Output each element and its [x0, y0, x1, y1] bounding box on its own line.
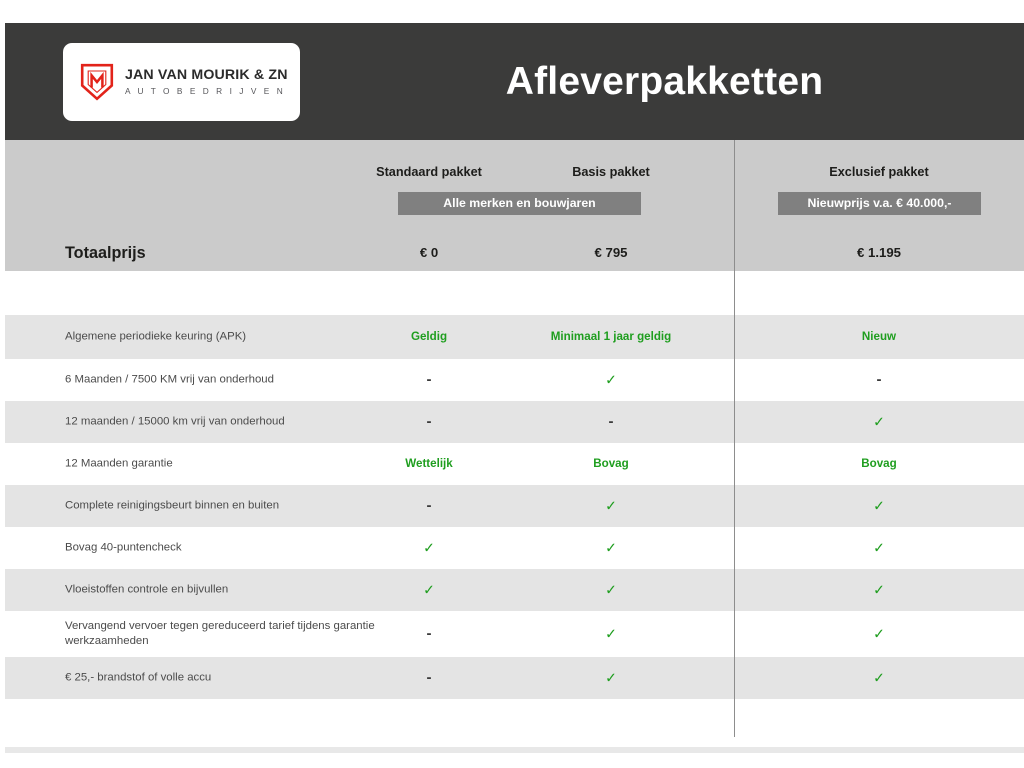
- cell-basis-check-icon: ✓: [532, 372, 690, 389]
- cell-exclusief-check-icon: ✓: [734, 670, 1024, 687]
- company-logo: JAN VAN MOURIK & ZN A U T O B E D R I J …: [63, 43, 300, 121]
- feature-label: Vervangend vervoer tegen gereduceerd tar…: [65, 619, 395, 649]
- feature-label: 12 Maanden garantie: [65, 456, 395, 471]
- feature-label: Algemene periodieke keuring (APK): [65, 329, 395, 344]
- column-divider: [734, 140, 735, 737]
- badge-new-price: Nieuwprijs v.a. € 40.000,-: [778, 192, 981, 215]
- page-header: JAN VAN MOURIK & ZN A U T O B E D R I J …: [5, 23, 1024, 140]
- cell-exclusief-check-icon: ✓: [734, 498, 1024, 515]
- page-title: Afleverpakketten: [305, 23, 1024, 140]
- cell-basis-check-icon: ✓: [532, 582, 690, 599]
- cell-basis-check-icon: ✓: [532, 498, 690, 515]
- cell-standaard-not-included: -: [361, 497, 497, 515]
- table-row: Complete reinigingsbeurt binnen en buite…: [5, 485, 1024, 527]
- cell-exclusief-value: Nieuw: [734, 330, 1024, 344]
- shield-m-icon: [80, 63, 114, 101]
- column-title-basis: Basis pakket: [532, 165, 690, 179]
- table-row: 12 Maanden garantieWettelijkBovagBovag: [5, 443, 1024, 485]
- cell-standaard-not-included: -: [361, 371, 497, 389]
- cell-basis-value: Minimaal 1 jaar geldig: [532, 330, 690, 344]
- cell-exclusief-check-icon: ✓: [734, 582, 1024, 599]
- cell-basis-check-icon: ✓: [532, 540, 690, 557]
- table-row: 12 maanden / 15000 km vrij van onderhoud…: [5, 401, 1024, 443]
- feature-label: Vloeistoffen controle en bijvullen: [65, 582, 395, 597]
- cell-exclusief-not-included: -: [734, 371, 1024, 389]
- cell-standaard-value: Wettelijk: [361, 457, 497, 471]
- cell-exclusief-check-icon: ✓: [734, 540, 1024, 557]
- total-price-standaard: € 0: [361, 235, 497, 271]
- total-price-row: Totaalprijs € 0 € 795 € 1.195: [5, 235, 1024, 271]
- table-row: Vervangend vervoer tegen gereduceerd tar…: [5, 611, 1024, 657]
- feature-label: Complete reinigingsbeurt binnen en buite…: [65, 498, 395, 513]
- cell-exclusief-check-icon: ✓: [734, 414, 1024, 431]
- cell-standaard-check-icon: ✓: [361, 540, 497, 557]
- table-row: Vloeistoffen controle en bijvullen✓✓✓: [5, 569, 1024, 611]
- cell-basis-check-icon: ✓: [532, 626, 690, 643]
- column-header-band: Standaard pakket Basis pakket Exclusief …: [5, 140, 1024, 271]
- table-bottom-spacer: [5, 699, 1024, 747]
- cell-basis-check-icon: ✓: [532, 670, 690, 687]
- table-row: 6 Maanden / 7500 KM vrij van onderhoud-✓…: [5, 359, 1024, 401]
- feature-table: Algemene periodieke keuring (APK)GeldigM…: [5, 271, 1024, 753]
- cell-basis-value: Bovag: [532, 457, 690, 471]
- cell-standaard-not-included: -: [361, 669, 497, 687]
- feature-label: Bovag 40-puntencheck: [65, 540, 395, 555]
- feature-label: € 25,- brandstof of volle accu: [65, 670, 395, 685]
- cell-basis-not-included: -: [532, 413, 690, 431]
- cell-exclusief-check-icon: ✓: [734, 626, 1024, 643]
- badge-all-brands: Alle merken en bouwjaren: [398, 192, 641, 215]
- total-price-exclusief: € 1.195: [734, 235, 1024, 271]
- total-price-basis: € 795: [532, 235, 690, 271]
- table-bottom-strip: [5, 747, 1024, 753]
- cell-standaard-check-icon: ✓: [361, 582, 497, 599]
- table-row: Bovag 40-puntencheck✓✓✓: [5, 527, 1024, 569]
- table-row: Algemene periodieke keuring (APK)GeldigM…: [5, 315, 1024, 359]
- cell-standaard-value: Geldig: [361, 330, 497, 344]
- afleverpakketten-page: JAN VAN MOURIK & ZN A U T O B E D R I J …: [0, 0, 1024, 768]
- cell-standaard-not-included: -: [361, 625, 497, 643]
- table-row: € 25,- brandstof of volle accu-✓✓: [5, 657, 1024, 699]
- feature-label: 6 Maanden / 7500 KM vrij van onderhoud: [65, 372, 395, 387]
- column-title-exclusief: Exclusief pakket: [734, 165, 1024, 179]
- logo-tagline: A U T O B E D R I J V E N: [125, 86, 288, 96]
- total-price-label: Totaalprijs: [65, 235, 146, 271]
- cell-exclusief-value: Bovag: [734, 457, 1024, 471]
- logo-company-name: JAN VAN MOURIK & ZN: [125, 68, 288, 84]
- feature-label: 12 maanden / 15000 km vrij van onderhoud: [65, 414, 395, 429]
- column-title-standaard: Standaard pakket: [361, 165, 497, 179]
- table-top-spacer: [5, 271, 1024, 315]
- logo-wordmark: JAN VAN MOURIK & ZN A U T O B E D R I J …: [125, 68, 288, 97]
- cell-standaard-not-included: -: [361, 413, 497, 431]
